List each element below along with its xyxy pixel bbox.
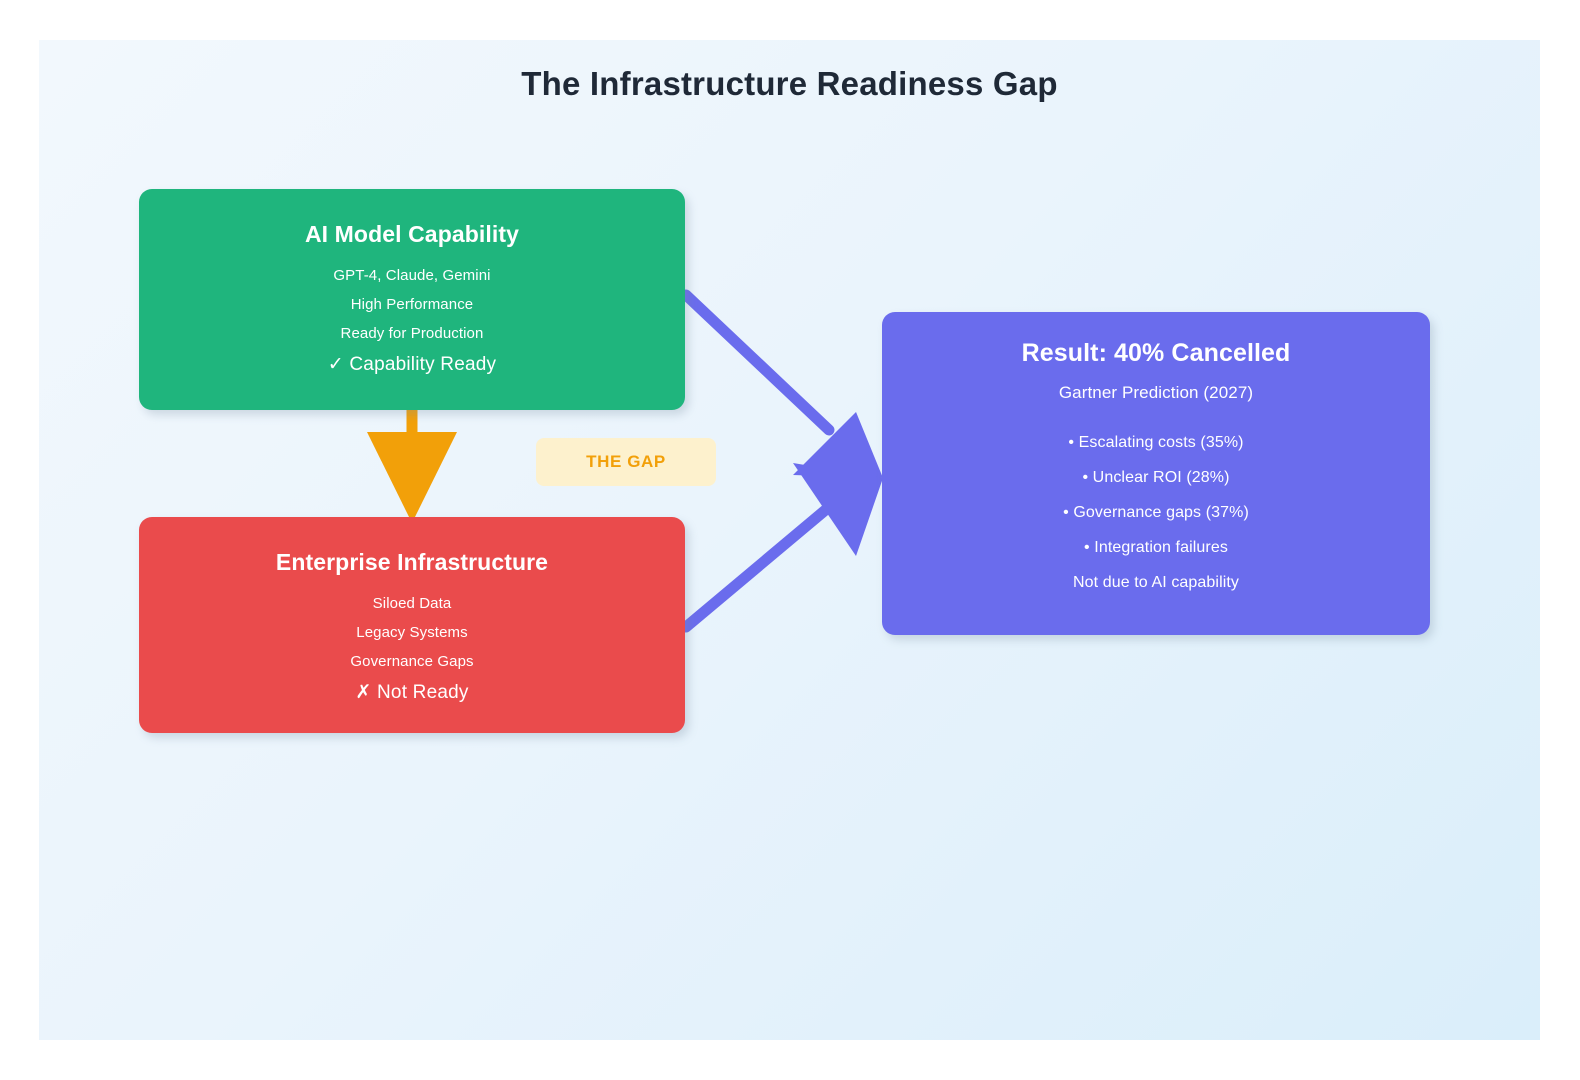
node-detail-line: GPT-4, Claude, Gemini [139,268,685,283]
check-icon: ✓ [328,354,344,375]
gap-label-badge: THE GAP [536,438,716,486]
result-subtitle: Gartner Prediction (2027) [882,383,1430,403]
node-detail-line: Governance Gaps [139,654,685,669]
flow-arrow-infrastructure-to-result [686,463,883,627]
node-title: Result: 40% Cancelled [882,338,1430,368]
result-bullet: • Integration failures [882,540,1430,556]
node-ai-model-capability[interactable]: AI Model Capability GPT-4, Claude, Gemin… [139,189,685,410]
status-badge-ready: ✓ Capability Ready [139,355,685,374]
gap-arrow [367,403,457,523]
node-detail-line: High Performance [139,297,685,312]
node-detail-line: Ready for Production [139,326,685,341]
cross-icon: ✗ [355,682,371,703]
page-title: The Infrastructure Readiness Gap [39,65,1540,103]
node-detail-line: Siloed Data [139,596,685,611]
status-label: Capability Ready [349,354,496,375]
status-label: Not Ready [377,682,469,703]
node-result-cancelled[interactable]: Result: 40% Cancelled Gartner Prediction… [882,312,1430,635]
diagram-canvas: The Infrastructure Readiness Gap AI Mode… [39,40,1540,1040]
result-bullet: • Unclear ROI (28%) [882,470,1430,486]
gap-label-text: THE GAP [586,452,666,472]
node-detail-line: Legacy Systems [139,625,685,640]
node-title: Enterprise Infrastructure [139,549,685,577]
result-bullet: • Escalating costs (35%) [882,435,1430,451]
status-badge-not-ready: ✗ Not Ready [139,683,685,702]
node-enterprise-infrastructure[interactable]: Enterprise Infrastructure Siloed Data Le… [139,517,685,733]
result-note: Not due to AI capability [882,575,1430,591]
node-title: AI Model Capability [139,221,685,249]
result-bullet: • Governance gaps (37%) [882,505,1430,521]
